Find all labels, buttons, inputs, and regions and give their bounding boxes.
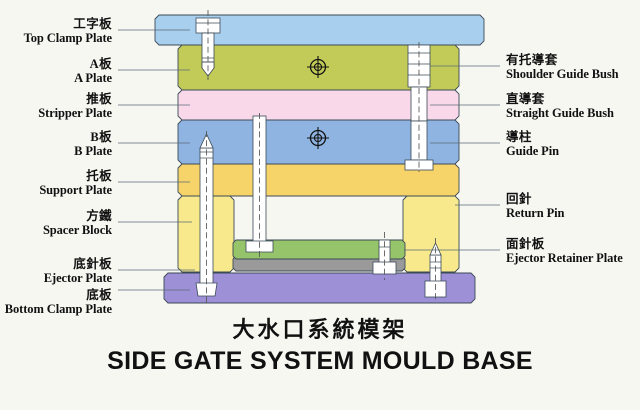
- label-cn: 底針板: [0, 257, 112, 271]
- label-en: A Plate: [0, 71, 112, 85]
- label-cn: A板: [0, 57, 112, 71]
- label-cn: 有托導套: [506, 53, 640, 67]
- title-english: SIDE GATE SYSTEM MOULD BASE: [0, 347, 640, 376]
- label-return-pin: 回針 Return Pin: [506, 192, 640, 220]
- label-top-clamp-plate: 工字板 Top Clamp Plate: [0, 17, 112, 45]
- label-en: Stripper Plate: [0, 106, 112, 120]
- label-a-plate: A板 A Plate: [0, 57, 112, 85]
- title-block: 大水口系統模架 SIDE GATE SYSTEM MOULD BASE: [0, 312, 640, 376]
- label-cn: 回針: [506, 192, 640, 206]
- label-cn: 底板: [0, 288, 112, 302]
- label-guide-pin: 導柱 Guide Pin: [506, 130, 640, 158]
- label-straight-guide-bush: 直導套 Straight Guide Bush: [506, 92, 640, 120]
- label-spacer-block: 方鐵 Spacer Block: [0, 209, 112, 237]
- label-cn: 工字板: [0, 17, 112, 31]
- label-support-plate: 托板 Support Plate: [0, 169, 112, 197]
- label-en: Ejector Plate: [0, 271, 112, 285]
- label-cn: 面針板: [506, 237, 640, 251]
- label-cn: 方鐵: [0, 209, 112, 223]
- label-en: Spacer Block: [0, 223, 112, 237]
- label-stripper-plate: 推板 Stripper Plate: [0, 92, 112, 120]
- label-en: Top Clamp Plate: [0, 31, 112, 45]
- label-en: Return Pin: [506, 206, 640, 220]
- mould-base-diagram: .ol{stroke:#3b4a57;stroke-width:.9;} .th…: [0, 0, 640, 410]
- label-en: Support Plate: [0, 183, 112, 197]
- label-ejector-retainer-plate: 面針板 Ejector Retainer Plate: [506, 237, 640, 265]
- label-en: Straight Guide Bush: [506, 106, 640, 120]
- label-cn: B板: [0, 130, 112, 144]
- label-cn: 推板: [0, 92, 112, 106]
- title-chinese: 大水口系統模架: [0, 312, 640, 344]
- label-en: B Plate: [0, 144, 112, 158]
- label-b-plate: B板 B Plate: [0, 130, 112, 158]
- label-cn: 導柱: [506, 130, 640, 144]
- label-en: Shoulder Guide Bush: [506, 67, 640, 81]
- label-cn: 托板: [0, 169, 112, 183]
- label-en: Ejector Retainer Plate: [506, 251, 640, 265]
- label-en: Guide Pin: [506, 144, 640, 158]
- label-shoulder-guide-bush: 有托導套 Shoulder Guide Bush: [506, 53, 640, 81]
- label-ejector-plate: 底針板 Ejector Plate: [0, 257, 112, 285]
- label-cn: 直導套: [506, 92, 640, 106]
